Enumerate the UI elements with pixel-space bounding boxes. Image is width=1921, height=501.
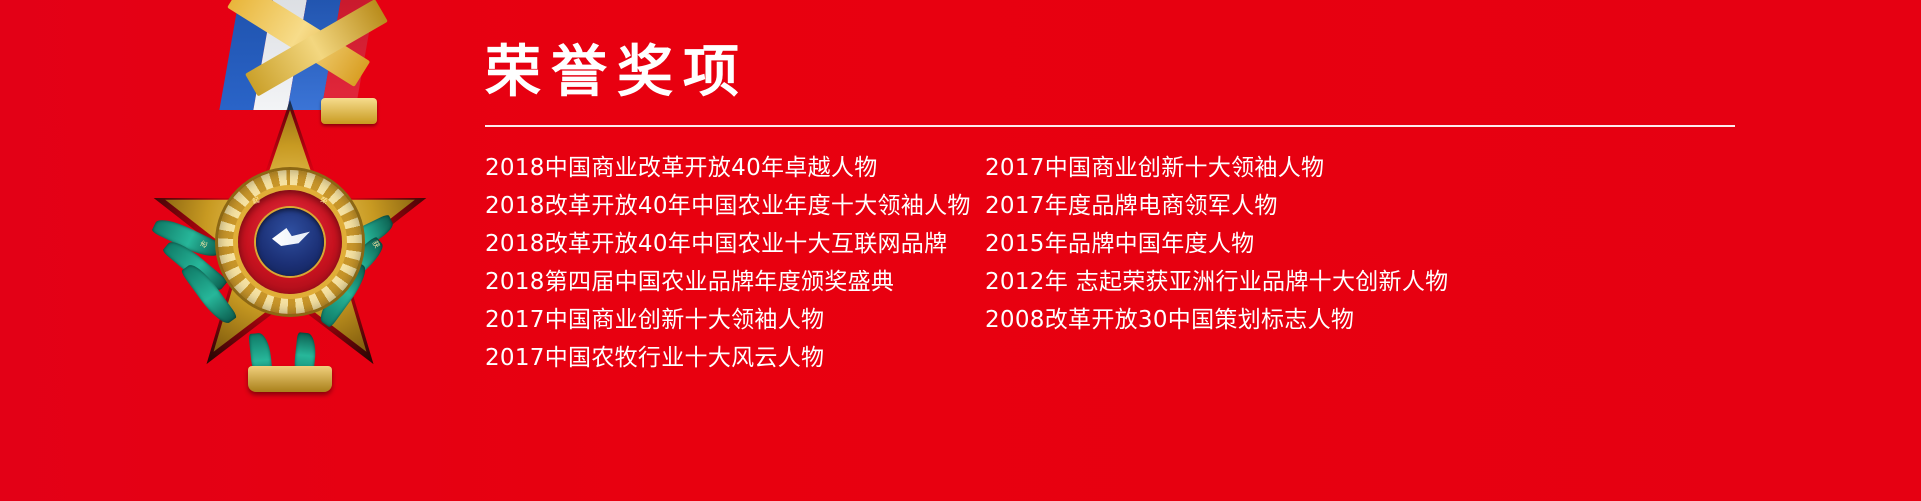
list-item: 2015年品牌中国年度人物	[985, 225, 1605, 263]
list-item: 2012年 志起荣获亚洲行业品牌十大创新人物	[985, 263, 1605, 301]
medal-star-body: 志起荣获	[130, 110, 450, 410]
awards-columns: 2018中国商业改革开放40年卓越人物 2018改革开放40年中国农业年度十大领…	[485, 149, 1735, 377]
medal-ribbon	[225, 0, 385, 118]
title-divider	[485, 125, 1735, 127]
list-item: 2018中国商业改革开放40年卓越人物	[485, 149, 985, 187]
list-item: 2008改革开放30中国策划标志人物	[985, 301, 1605, 339]
medal-bird-icon	[272, 228, 310, 246]
medal-emblem-inner	[256, 208, 324, 276]
list-item: 2018改革开放40年中国农业十大互联网品牌	[485, 225, 985, 263]
medal-star-icon: 志起荣获	[130, 0, 470, 410]
awards-left-column: 2018中国商业改革开放40年卓越人物 2018改革开放40年中国农业年度十大领…	[485, 149, 985, 377]
list-item: 2017年度品牌电商领军人物	[985, 187, 1605, 225]
list-item: 2018第四届中国农业品牌年度颁奖盛典	[485, 263, 985, 301]
list-item: 2017中国商业创新十大领袖人物	[985, 149, 1605, 187]
page-title: 荣誉奖项	[485, 44, 1735, 103]
awards-right-column: 2017中国商业创新十大领袖人物 2017年度品牌电商领军人物 2015年品牌中…	[985, 149, 1605, 377]
medal-base	[248, 366, 332, 392]
list-item: 2017中国农牧行业十大风云人物	[485, 339, 985, 377]
medal-emblem: 志起荣获	[238, 190, 342, 294]
honors-awards-banner: 志起荣获 荣誉奖项 2018中国商业改革开放40年卓越人物 2018改革开放40…	[0, 0, 1921, 501]
awards-content: 荣誉奖项 2018中国商业改革开放40年卓越人物 2018改革开放40年中国农业…	[485, 44, 1735, 377]
list-item: 2017中国商业创新十大领袖人物	[485, 301, 985, 339]
list-item: 2018改革开放40年中国农业年度十大领袖人物	[485, 187, 985, 225]
